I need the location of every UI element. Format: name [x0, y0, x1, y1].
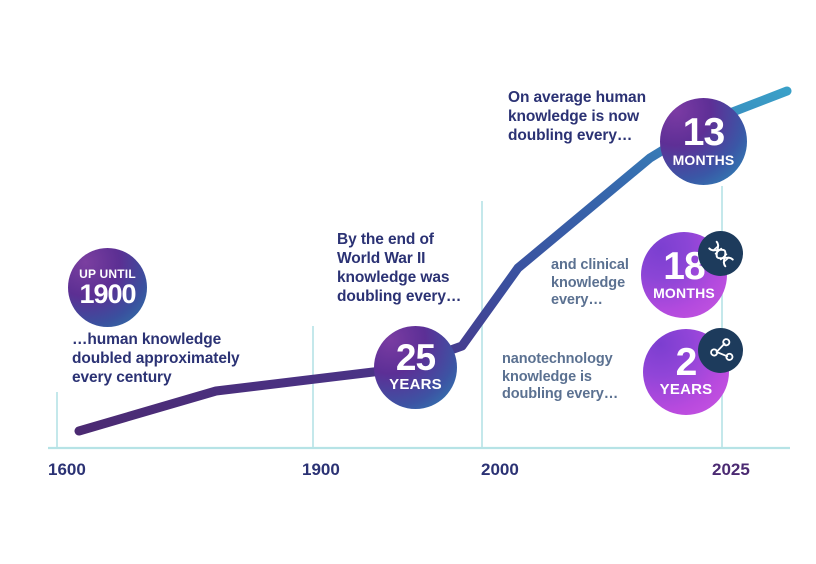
- callout-clinical-text: and clinical knowledge every…: [551, 257, 656, 310]
- bubble-up-until-1900: UP UNTIL 1900: [68, 248, 147, 327]
- bubble-13-value: 13: [683, 115, 724, 151]
- knowledge-doubling-infographic: …human knowledge doubled approximately e…: [0, 0, 816, 564]
- axis-tick-2000: 2000: [481, 460, 519, 480]
- axis-tick-2025: 2025: [712, 460, 750, 480]
- callout-nanotechnology-text: nanotechnology knowledge is doubling eve…: [502, 351, 648, 404]
- bubble-18-unit: MONTHS: [653, 286, 715, 301]
- axis-tick-1600: 1600: [48, 460, 86, 480]
- bubble-2-value: 2: [676, 345, 697, 381]
- bubble-2-unit: YEARS: [660, 382, 713, 399]
- callout-ww2-text: By the end of World War II knowledge was…: [337, 231, 497, 307]
- bubble-1900-value: 1900: [79, 282, 135, 307]
- bubble-25-value: 25: [396, 341, 435, 375]
- bubble-13-months: 13 MONTHS: [660, 98, 747, 185]
- callout-now-text: On average human knowledge is now doubli…: [508, 89, 673, 146]
- bubble-25-years: 25 YEARS: [374, 326, 457, 409]
- share-network-icon: [698, 328, 743, 373]
- dna-helix-icon: [698, 231, 743, 276]
- bubble-25-unit: YEARS: [389, 377, 442, 394]
- callout-century-text: …human knowledge doubled approximately e…: [72, 331, 287, 388]
- axis-tick-1900: 1900: [302, 460, 340, 480]
- bubble-13-unit: MONTHS: [673, 153, 735, 168]
